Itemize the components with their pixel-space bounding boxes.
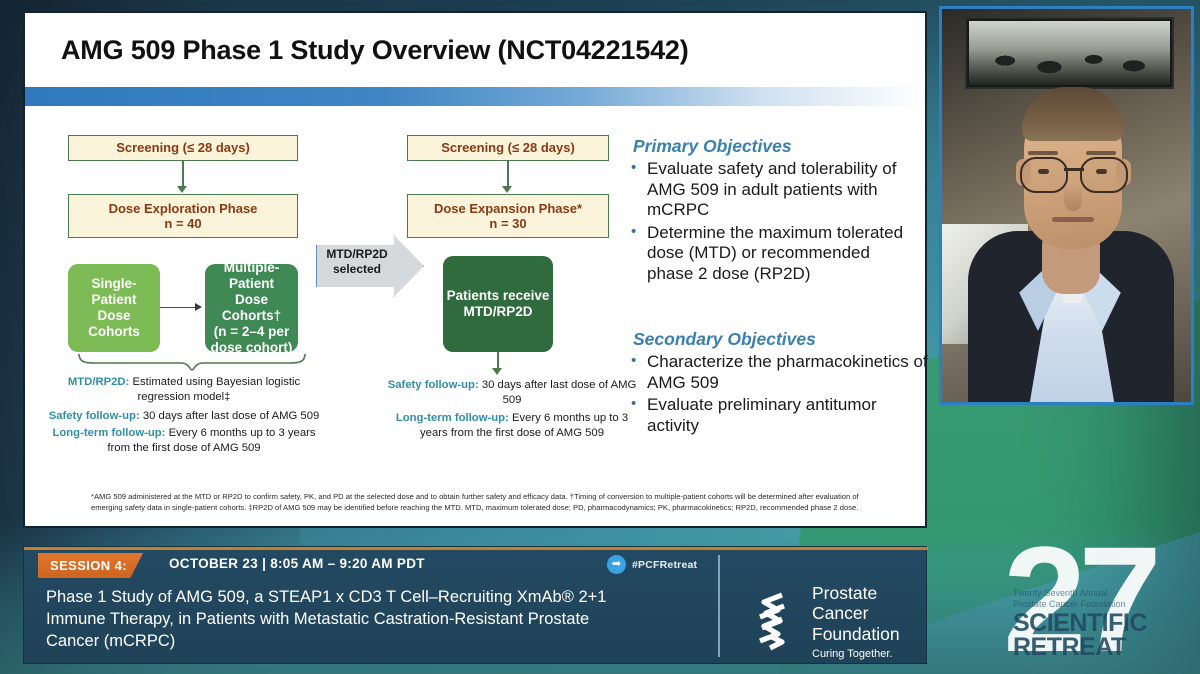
secondary-objectives-list: • Characterize the pharmacokinetics of A…: [631, 352, 929, 438]
session-banner: SESSION 4: OCTOBER 23 | 8:05 AM – 9:20 A…: [23, 546, 927, 664]
left-arrowhead-1: [177, 186, 187, 193]
right-arrowhead-1: [502, 186, 512, 193]
multi-cohort-line2: Dose Cohorts†: [209, 292, 294, 324]
lens-right: [1080, 157, 1128, 193]
primary-objective-1: Evaluate safety and tolerability of AMG …: [647, 159, 916, 221]
list-item: • Evaluate preliminary antitumor activit…: [631, 395, 929, 436]
left-note-mtd-label: MTD/RP2D:: [68, 376, 130, 388]
patients-receive-box: Patients receive MTD/RP2D: [443, 256, 553, 352]
list-item: • Determine the maximum tolerated dose (…: [631, 223, 916, 285]
multiple-patient-cohort-box: Multiple-Patient Dose Cohorts† (n = 2–4 …: [205, 264, 298, 352]
presentation-slide: AMG 509 Phase 1 Study Overview (NCT04221…: [23, 11, 927, 528]
pcf-logo-text: Prostate Cancer Foundation Curing Togeth…: [812, 583, 926, 660]
slide-footnote: *AMG 509 administered at the MTD or RP2D…: [91, 491, 891, 513]
left-notes: MTD/RP2D: Estimated using Bayesian logis…: [45, 375, 323, 456]
pcf-name-line2: Foundation: [812, 624, 926, 644]
right-note-safety-text: 30 days after last dose of AMG 509: [479, 379, 637, 406]
primary-objectives-list: • Evaluate safety and tolerability of AM…: [631, 159, 916, 286]
arrow-label-line2: selected: [316, 262, 398, 277]
bullet-icon: •: [631, 159, 647, 221]
single-patient-cohort-box: Single-Patient Dose Cohorts: [68, 264, 160, 352]
right-notes: Safety follow-up: 30 days after last dos…: [387, 378, 637, 441]
dose-exploration-line2: n = 40: [164, 216, 201, 231]
retreat-badge: 27 Twenty-Seventh Annual Prostate Cancer…: [995, 540, 1200, 674]
right-note-safety-label: Safety follow-up:: [388, 379, 479, 391]
patients-receive-line2: MTD/RP2D: [463, 304, 532, 320]
dose-exploration-box: Dose Exploration Phase n = 40: [68, 194, 298, 238]
multi-cohort-line3: (n = 2–4 per: [214, 324, 289, 340]
right-note-long-label: Long-term follow-up:: [396, 412, 509, 424]
right-screening-box: Screening (≤ 28 days): [407, 135, 609, 161]
badge-text: Twenty-Seventh Annual Prostate Cancer Fo…: [1013, 588, 1183, 659]
multi-cohort-line1: Multiple-Patient: [209, 260, 294, 292]
banner-divider: [718, 555, 720, 657]
hashtag-group: ➡ #PCFRetreat: [607, 555, 697, 574]
list-item: • Evaluate safety and tolerability of AM…: [631, 159, 916, 221]
dose-exploration-line1: Dose Exploration Phase: [109, 201, 258, 216]
pcf-name-line1: Prostate Cancer: [812, 583, 926, 624]
talk-title: Phase 1 Study of AMG 509, a STEAP1 x CD3…: [46, 587, 646, 653]
hashtag-label: #PCFRetreat: [632, 559, 697, 571]
badge-sub1: Twenty-Seventh Annual: [1013, 588, 1183, 599]
list-item: • Characterize the pharmacokinetics of A…: [631, 352, 929, 393]
left-note-safety-text: 30 days after last dose of AMG 509: [140, 410, 320, 422]
speaker-nose: [1064, 185, 1082, 211]
primary-objectives-heading: Primary Objectives: [633, 136, 792, 157]
dose-expansion-line2: n = 30: [489, 216, 526, 231]
badge-main2: RETREAT: [1013, 635, 1183, 659]
bullet-icon: •: [631, 223, 647, 285]
pcf-tagline: Curing Together.: [812, 648, 926, 660]
twitter-icon: ➡: [607, 555, 626, 574]
arrow-label-line1: MTD/RP2D: [316, 247, 398, 262]
arrow-label: MTD/RP2D selected: [316, 247, 398, 277]
right-note-safety: Safety follow-up: 30 days after last dos…: [387, 378, 637, 408]
badge-main1: SCIENTIFIC: [1013, 611, 1183, 635]
primary-objective-2: Determine the maximum tolerated dose (MT…: [647, 223, 916, 285]
pcf-logo-icon: [748, 590, 800, 652]
artwork-scene: [969, 21, 1170, 85]
session-badge: SESSION 4:: [38, 553, 143, 578]
right-connector-1: [507, 161, 509, 188]
left-note-long-label: Long-term follow-up:: [52, 427, 165, 439]
session-datetime: OCTOBER 23 | 8:05 AM – 9:20 AM PDT: [169, 556, 425, 571]
secondary-objective-2: Evaluate preliminary antitumor activity: [647, 395, 929, 436]
cohort-arrowhead: [195, 303, 202, 311]
left-note-safety: Safety follow-up: 30 days after last dos…: [45, 409, 323, 424]
cohort-connector: [160, 307, 197, 308]
dose-expansion-line1: Dose Expansion Phase*: [434, 201, 582, 216]
left-note-longterm: Long-term follow-up: Every 6 months up t…: [45, 426, 323, 456]
slide-title: AMG 509 Phase 1 Study Overview (NCT04221…: [61, 35, 689, 66]
bullet-icon: •: [631, 395, 647, 436]
pcf-logo-group: Prostate Cancer Foundation Curing Togeth…: [748, 583, 926, 660]
secondary-objectives-heading: Secondary Objectives: [633, 329, 816, 350]
lens-left: [1020, 157, 1068, 193]
speaker-brow-left: [1028, 151, 1058, 155]
patients-receive-line1: Patients receive: [447, 288, 550, 304]
left-connector-1: [182, 161, 184, 188]
glasses-bridge: [1064, 168, 1084, 171]
right-note-longterm: Long-term follow-up: Every 6 months up t…: [387, 411, 637, 441]
left-note-mtd: MTD/RP2D: Estimated using Bayesian logis…: [45, 375, 323, 405]
left-screening-box: Screening (≤ 28 days): [68, 135, 298, 161]
cohort-brace: [77, 353, 307, 371]
wall-artwork: [965, 17, 1174, 89]
speaker-video-panel[interactable]: [939, 6, 1194, 405]
secondary-objective-1: Characterize the pharmacokinetics of AMG…: [647, 352, 929, 393]
banner-top-rule: [24, 547, 928, 550]
left-note-mtd-text: Estimated using Bayesian logistic regres…: [129, 376, 300, 403]
speaker-mouth: [1052, 217, 1094, 222]
speaker-brow-right: [1086, 151, 1116, 155]
bullet-icon: •: [631, 352, 647, 393]
dose-expansion-box: Dose Expansion Phase* n = 30: [407, 194, 609, 238]
slide-accent-bar: [25, 87, 925, 106]
mtd-rp2d-transition-arrow: MTD/RP2D selected: [316, 235, 424, 297]
right-arrowhead-2: [492, 368, 502, 375]
left-note-safety-label: Safety follow-up:: [49, 410, 140, 422]
screen: AMG 509 Phase 1 Study Overview (NCT04221…: [0, 0, 1200, 674]
